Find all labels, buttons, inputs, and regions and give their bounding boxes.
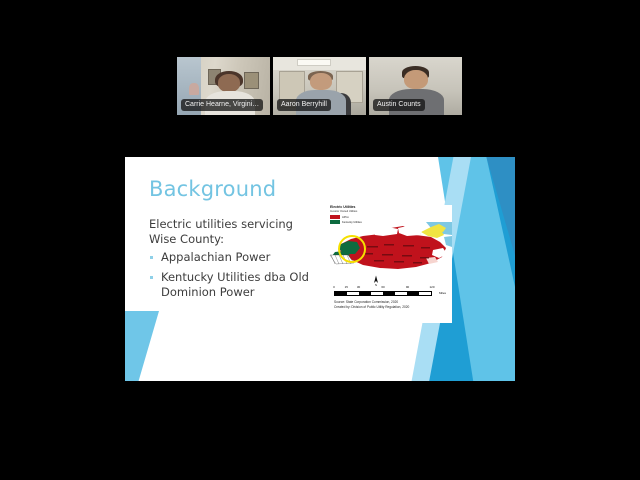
scale-tick-labels: 0 15 30 60 90 120 <box>334 285 432 291</box>
scale-bar-segments <box>334 291 432 296</box>
list-item: Appalachian Power <box>149 250 335 265</box>
participant-3-name-label: Austin Counts <box>373 99 425 111</box>
participant-1-name-label: Carrie Hearne, Virgini… <box>181 99 263 111</box>
scale-tick: 120 <box>429 285 434 289</box>
shared-presentation-slide[interactable]: Background Electric utilities servicing … <box>125 157 515 381</box>
slide-title: Background <box>149 177 276 201</box>
scale-tick: 90 <box>406 285 409 289</box>
bullet-text: Kentucky Utilities dba Old Dominion Powe… <box>161 270 309 299</box>
slide-decoration-corner <box>125 311 159 381</box>
scale-tick: 15 <box>345 285 348 289</box>
bullet-marker-icon <box>150 256 153 259</box>
video-tile-participant-2[interactable]: Aaron Berryhill <box>273 57 366 115</box>
slide-bullet-list: Appalachian Power Kentucky Utilities dba… <box>149 250 335 305</box>
map-source-line-2: Created by: Division of Public Utility R… <box>334 305 409 310</box>
video-tile-participant-1[interactable]: Carrie Hearne, Virgini… <box>177 57 270 115</box>
map-legend-subtitle: Investor Owned Utilities <box>330 210 392 214</box>
video-participant-strip: Carrie Hearne, Virgini… Aaron Berryhill … <box>177 57 463 115</box>
scale-tick: 0 <box>333 285 335 289</box>
scale-tick: 30 <box>357 285 360 289</box>
electric-utilities-map-figure: Electric Utilities Investor Owned Utilit… <box>328 205 452 323</box>
participant-2-name-label: Aaron Berryhill <box>277 99 331 111</box>
virginia-utility-territory-map <box>328 222 452 284</box>
map-legend-entry-apco: APCo <box>330 215 392 219</box>
scale-tick: 60 <box>381 285 384 289</box>
scale-unit-label: Miles <box>439 291 446 295</box>
map-source-credit: Source: State Corporation Commission, 20… <box>334 300 409 309</box>
bullet-marker-icon <box>150 276 153 279</box>
legend-label-apco: APCo <box>342 216 349 219</box>
slide-intro-text: Electric utilities servicing Wise County… <box>149 217 321 247</box>
list-item: Kentucky Utilities dba Old Dominion Powe… <box>149 270 335 300</box>
map-source-line-1: Source: State Corporation Commission, 20… <box>334 300 409 305</box>
video-tile-participant-3[interactable]: Austin Counts <box>369 57 462 115</box>
map-scale-bar: 0 15 30 60 90 120 Miles <box>334 285 432 296</box>
legend-swatch-apco <box>330 215 340 219</box>
bullet-text: Appalachian Power <box>161 250 270 264</box>
